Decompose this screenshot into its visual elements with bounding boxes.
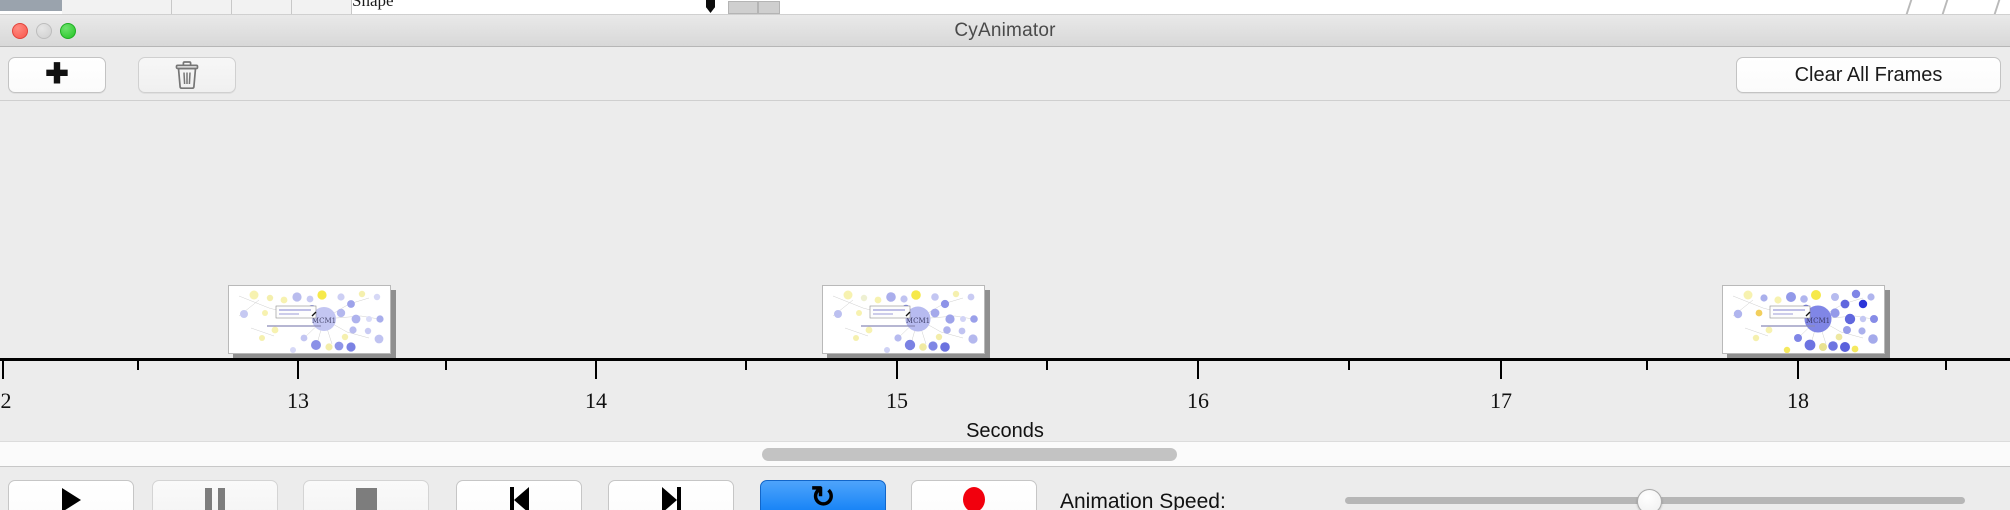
keyframe-thumbnail-2[interactable]: MCM1 (822, 285, 990, 357)
axis-tick-major (1797, 360, 1799, 379)
window-title: CyAnimator (0, 20, 2010, 42)
network-thumbnail-canvas: MCM1 (822, 285, 985, 354)
network-thumbnail-canvas: MCM1 (1722, 285, 1885, 354)
axis-tick-label: 13 (287, 388, 309, 414)
background-tab (172, 0, 232, 14)
axis-tick-label: 15 (886, 388, 908, 414)
axis-tick-major (595, 360, 597, 379)
background-divider (1906, 0, 1913, 14)
axis-tick-label: 17 (1490, 388, 1512, 414)
axis-tick-minor (1348, 360, 1350, 370)
cyanimator-window-root: Shape CyAnimator ✚ (0, 0, 2010, 510)
axis-tick-major (1500, 360, 1502, 379)
axis-tick-minor (1646, 360, 1648, 370)
add-frame-button[interactable]: ✚ (8, 57, 106, 93)
axis-tick-label: 18 (1787, 388, 1809, 414)
axis-tick-label: 14 (585, 388, 607, 414)
timeline-panel[interactable]: MCM1 (0, 101, 2010, 441)
axis-tick-minor (137, 360, 139, 370)
background-tab (292, 0, 352, 14)
frame-toolbar: ✚ Clear All Frames (0, 47, 2010, 101)
plus-icon: ✚ (45, 60, 68, 88)
background-window-text: Shape (352, 0, 394, 11)
delete-frame-button[interactable] (138, 57, 236, 93)
background-chip (758, 1, 780, 14)
skip-forward-icon (662, 487, 681, 510)
timeline-horizontal-scrollbar[interactable] (0, 441, 2010, 467)
axis-tick-label: 2 (1, 388, 12, 414)
clear-all-frames-button[interactable]: Clear All Frames (1736, 57, 2001, 93)
background-tab (232, 0, 292, 14)
axis-tick-minor (445, 360, 447, 370)
network-thumbnail-canvas: MCM1 (228, 285, 391, 354)
scrollbar-thumb[interactable] (762, 448, 1177, 461)
skip-to-start-button[interactable] (456, 480, 582, 510)
annotation-callout (276, 306, 316, 318)
graph-nodes: MCM1 (834, 290, 978, 353)
axis-tick-major (896, 360, 898, 379)
pause-button[interactable] (152, 480, 278, 510)
axis-tick-minor (1046, 360, 1048, 370)
background-divider (1942, 0, 1949, 14)
annotation-callout (1770, 306, 1810, 318)
background-titlebar-chip (0, 0, 62, 11)
animation-speed-slider-thumb[interactable] (1637, 489, 1662, 510)
record-button[interactable] (911, 480, 1037, 510)
background-chip (728, 1, 758, 14)
graph-nodes: MCM1 (240, 290, 384, 353)
background-tab (62, 0, 172, 14)
skip-to-end-button[interactable] (608, 480, 734, 510)
window-titlebar: CyAnimator (0, 15, 2010, 47)
axis-tick-minor (745, 360, 747, 370)
axis-title-seconds: Seconds (0, 420, 2010, 441)
clear-all-frames-label: Clear All Frames (1795, 64, 1943, 87)
background-divider (1994, 0, 2001, 14)
axis-tick-major (1197, 360, 1199, 379)
background-window-strip: Shape (0, 0, 2010, 14)
loop-icon: ↻ (810, 483, 835, 510)
stop-icon (356, 488, 377, 510)
network-graph-3: MCM1 (1723, 286, 1884, 353)
loop-button[interactable]: ↻ (760, 480, 886, 510)
timeline-axis-line (0, 358, 2010, 361)
pause-icon (205, 488, 225, 510)
playback-controls-bar: ↻ Animation Speed: (0, 467, 2010, 510)
record-icon (963, 487, 985, 510)
stop-button[interactable] (303, 480, 429, 510)
animation-speed-label: Animation Speed: (1060, 490, 1226, 510)
play-button[interactable] (8, 480, 134, 510)
annotation-callout (870, 306, 910, 318)
trash-icon (174, 61, 200, 89)
network-graph-1: MCM1 (229, 286, 390, 353)
axis-tick-label: 16 (1187, 388, 1209, 414)
network-graph-2: MCM1 (823, 286, 984, 353)
skip-back-icon (510, 487, 529, 510)
axis-tick-major (2, 360, 4, 379)
keyframe-thumbnail-3[interactable]: MCM1 (1722, 285, 1890, 357)
cyanimator-window: CyAnimator ✚ Clear All Frames (0, 14, 2010, 510)
axis-tick-major (297, 360, 299, 379)
axis-tick-minor (1945, 360, 1947, 370)
graph-nodes: MCM1 (1734, 290, 1878, 353)
background-marker-icon (706, 0, 715, 13)
play-icon (62, 488, 81, 510)
keyframe-thumbnail-1[interactable]: MCM1 (228, 285, 396, 357)
